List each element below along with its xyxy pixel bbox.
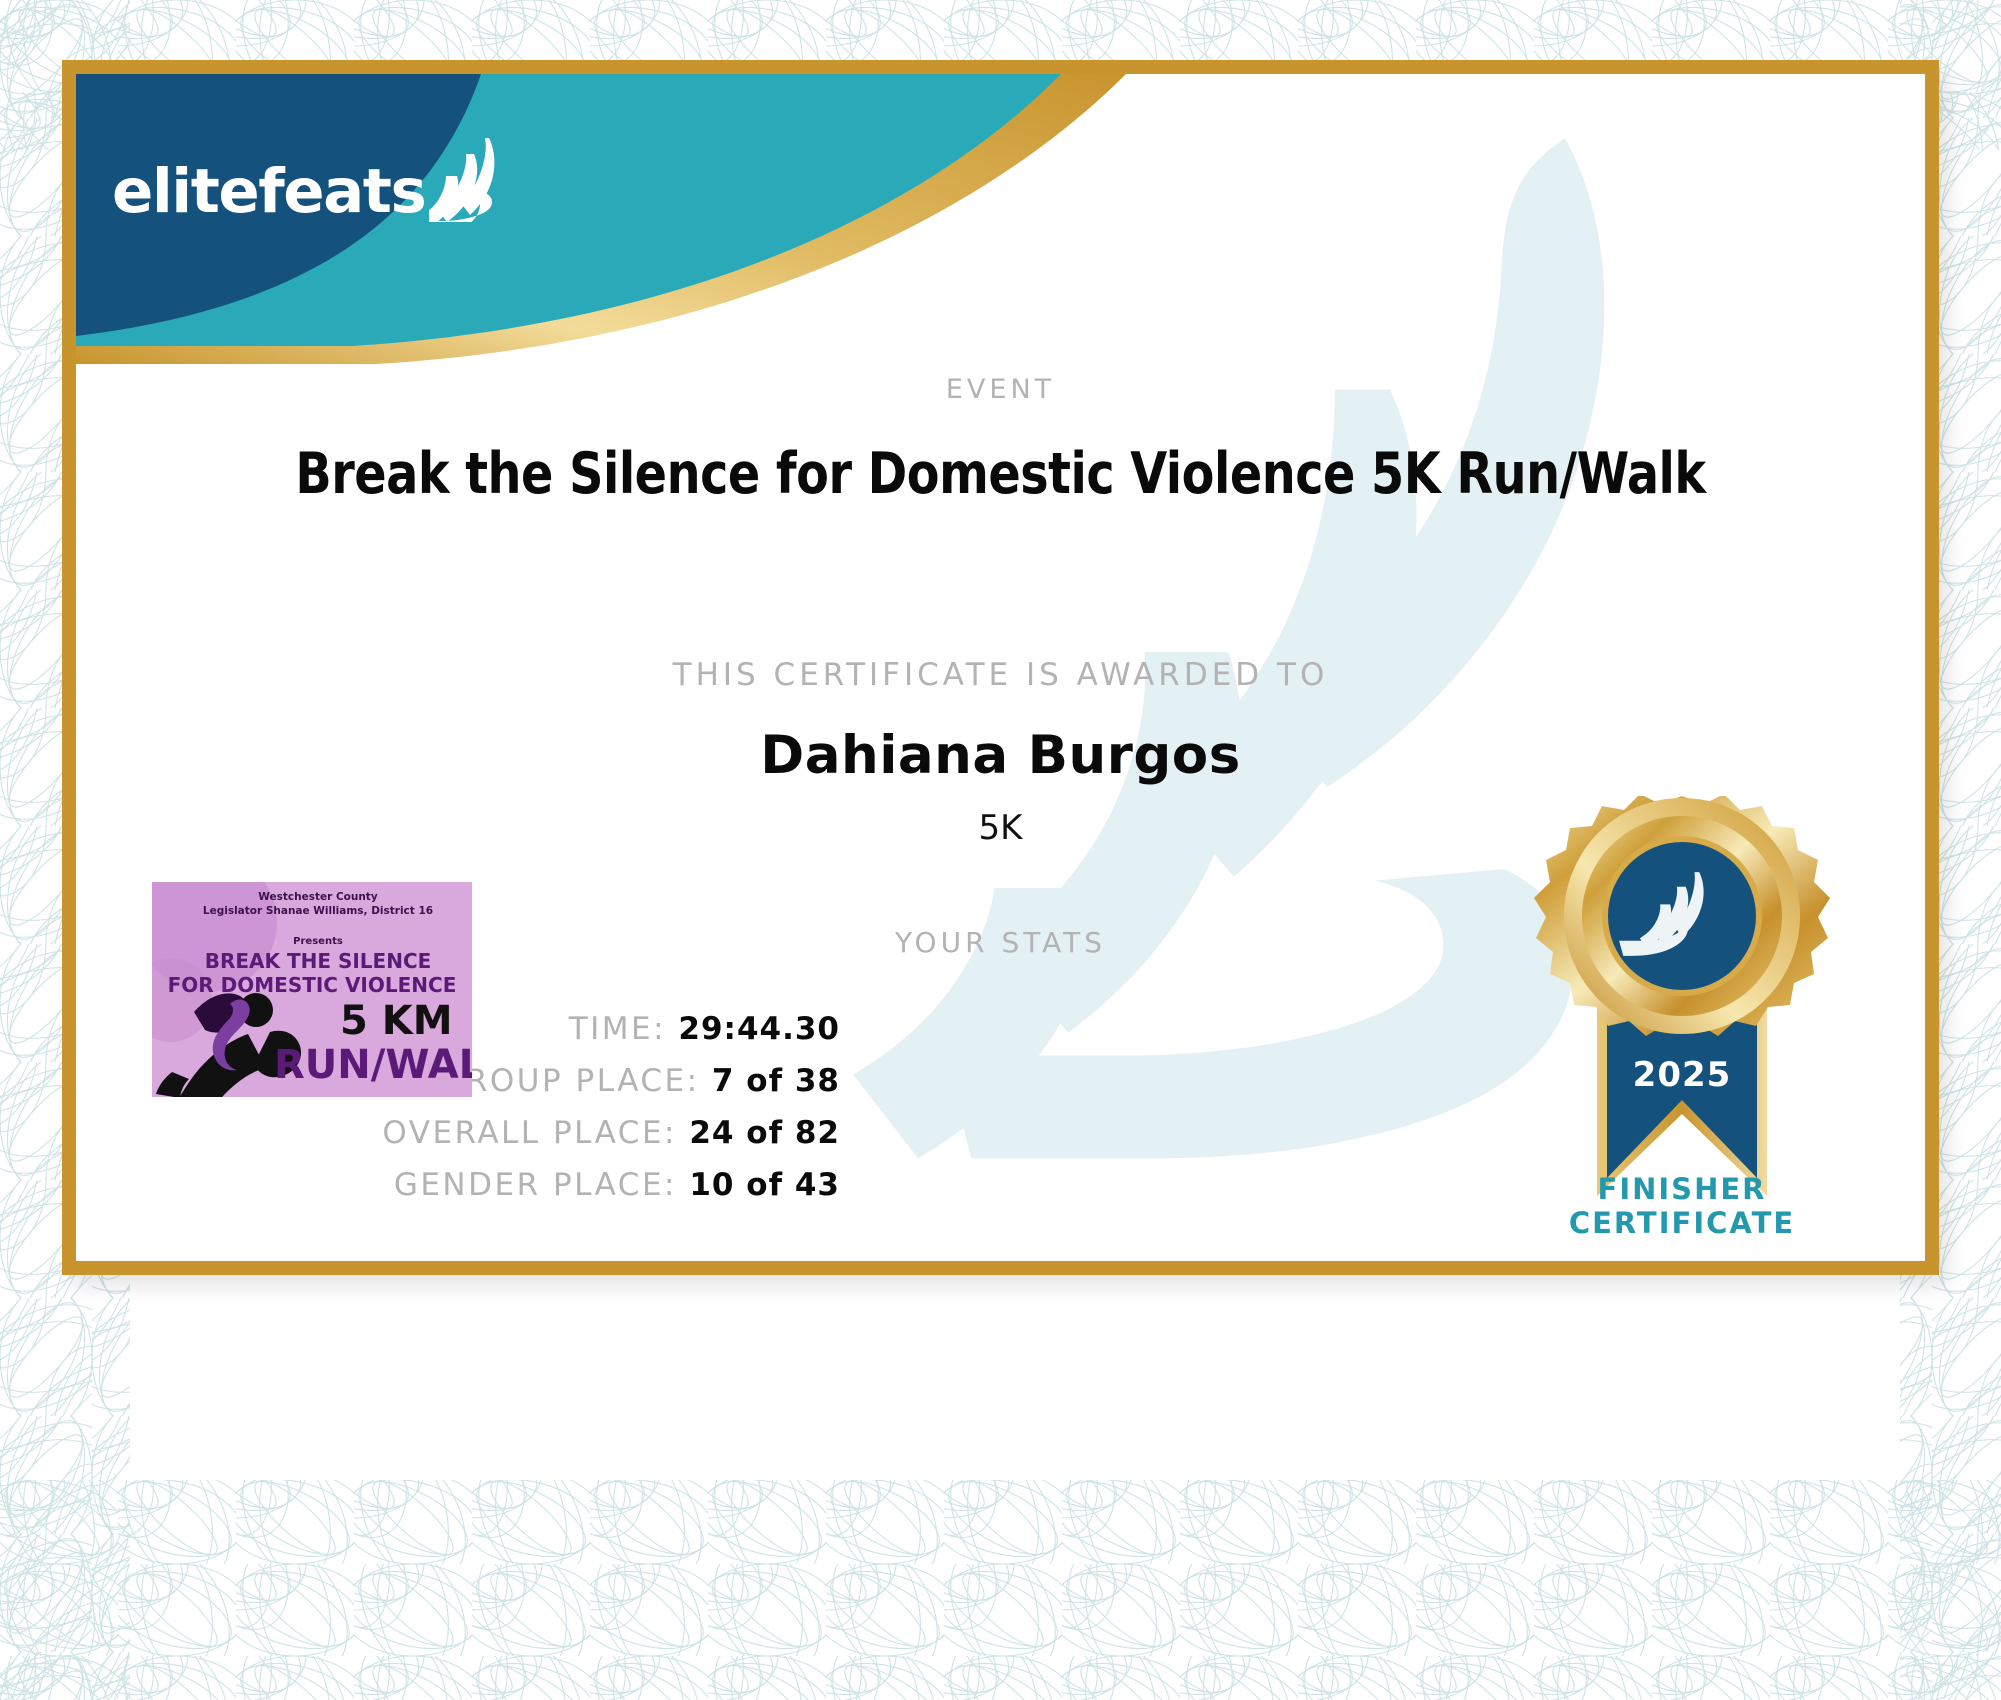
event-title: Break the Silence for Domestic Violence …	[141, 441, 1861, 507]
stat-key: TIME:	[569, 1011, 666, 1047]
race-logo-title-line2: FOR DOMESTIC VIOLENCE	[168, 973, 457, 997]
finisher-certificate-caption: FINISHER CERTIFICATE	[1527, 1172, 1837, 1240]
finisher-line-1: FINISHER	[1527, 1172, 1837, 1206]
stat-key: GENDER PLACE:	[394, 1167, 677, 1203]
stat-value: 29:44.30	[678, 1011, 840, 1047]
stat-value: 7 of 38	[712, 1063, 840, 1099]
race-logo-county: Westchester County	[258, 891, 378, 903]
stat-value: 10 of 43	[689, 1167, 840, 1203]
stat-key: OVERALL PLACE:	[382, 1115, 677, 1151]
event-label: EVENT	[76, 374, 1925, 405]
race-logo-presents: Presents	[293, 936, 343, 947]
race-logo-distance: 5 KM	[340, 998, 453, 1044]
recipient-name: Dahiana Burgos	[76, 725, 1925, 786]
race-logo-title-line1: BREAK THE SILENCE	[205, 949, 432, 973]
finisher-line-2: CERTIFICATE	[1527, 1206, 1837, 1240]
awarded-to-label: THIS CERTIFICATE IS AWARDED TO	[76, 657, 1925, 693]
medal-year: 2025	[1633, 1055, 1732, 1095]
race-logo-type: RUN/WALK	[274, 1042, 472, 1088]
stat-row-overall-place: OVERALL PLACE: 24 of 82	[382, 1115, 840, 1151]
stat-row-gender-place: GENDER PLACE: 10 of 43	[394, 1167, 840, 1203]
certificate-sheet: elitefeats EVENT Break the Silence for D…	[62, 60, 1939, 1275]
stat-row-time: TIME: 29:44.30	[569, 1011, 840, 1047]
race-logo-legislator: Legislator Shanae Williams, District 16	[203, 905, 433, 917]
stat-value: 24 of 82	[689, 1115, 840, 1151]
race-event-logo: Westchester County Legislator Shanae Wil…	[152, 882, 472, 1097]
